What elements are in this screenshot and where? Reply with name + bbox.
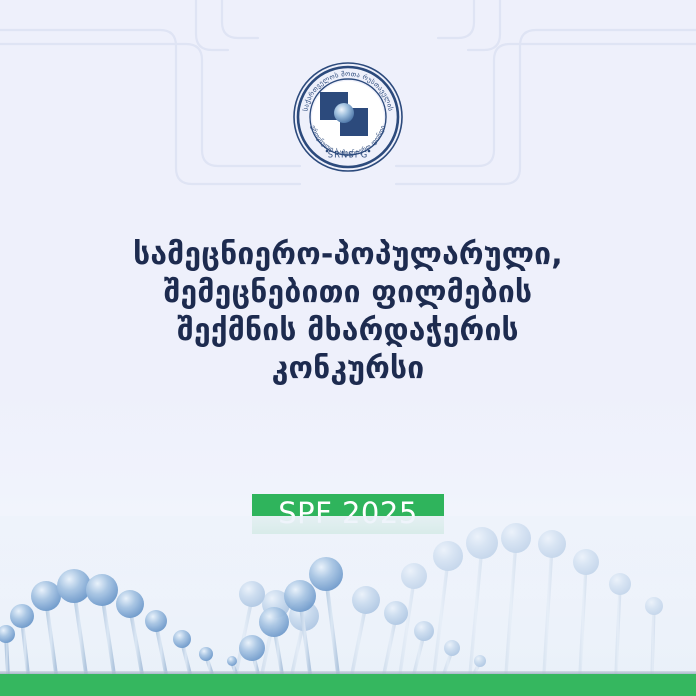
logo-container: საქართველოს შოთა რუსთაველის ეროვნული სამ… [0, 62, 696, 172]
seal-acronym: SRNSFG [328, 150, 369, 160]
srnsfg-seal-icon: საქართველოს შოთა რუსთაველის ეროვნული სამ… [293, 62, 403, 172]
poster-title: სამეცნიერო-პოპულარული, შემეცნებითი ფილმე… [0, 236, 696, 388]
green-footer-bar [0, 674, 696, 696]
dna-helix-graphic [0, 516, 696, 696]
poster-canvas: საქართველოს შოთა რუსთაველის ეროვნული სამ… [0, 0, 696, 696]
